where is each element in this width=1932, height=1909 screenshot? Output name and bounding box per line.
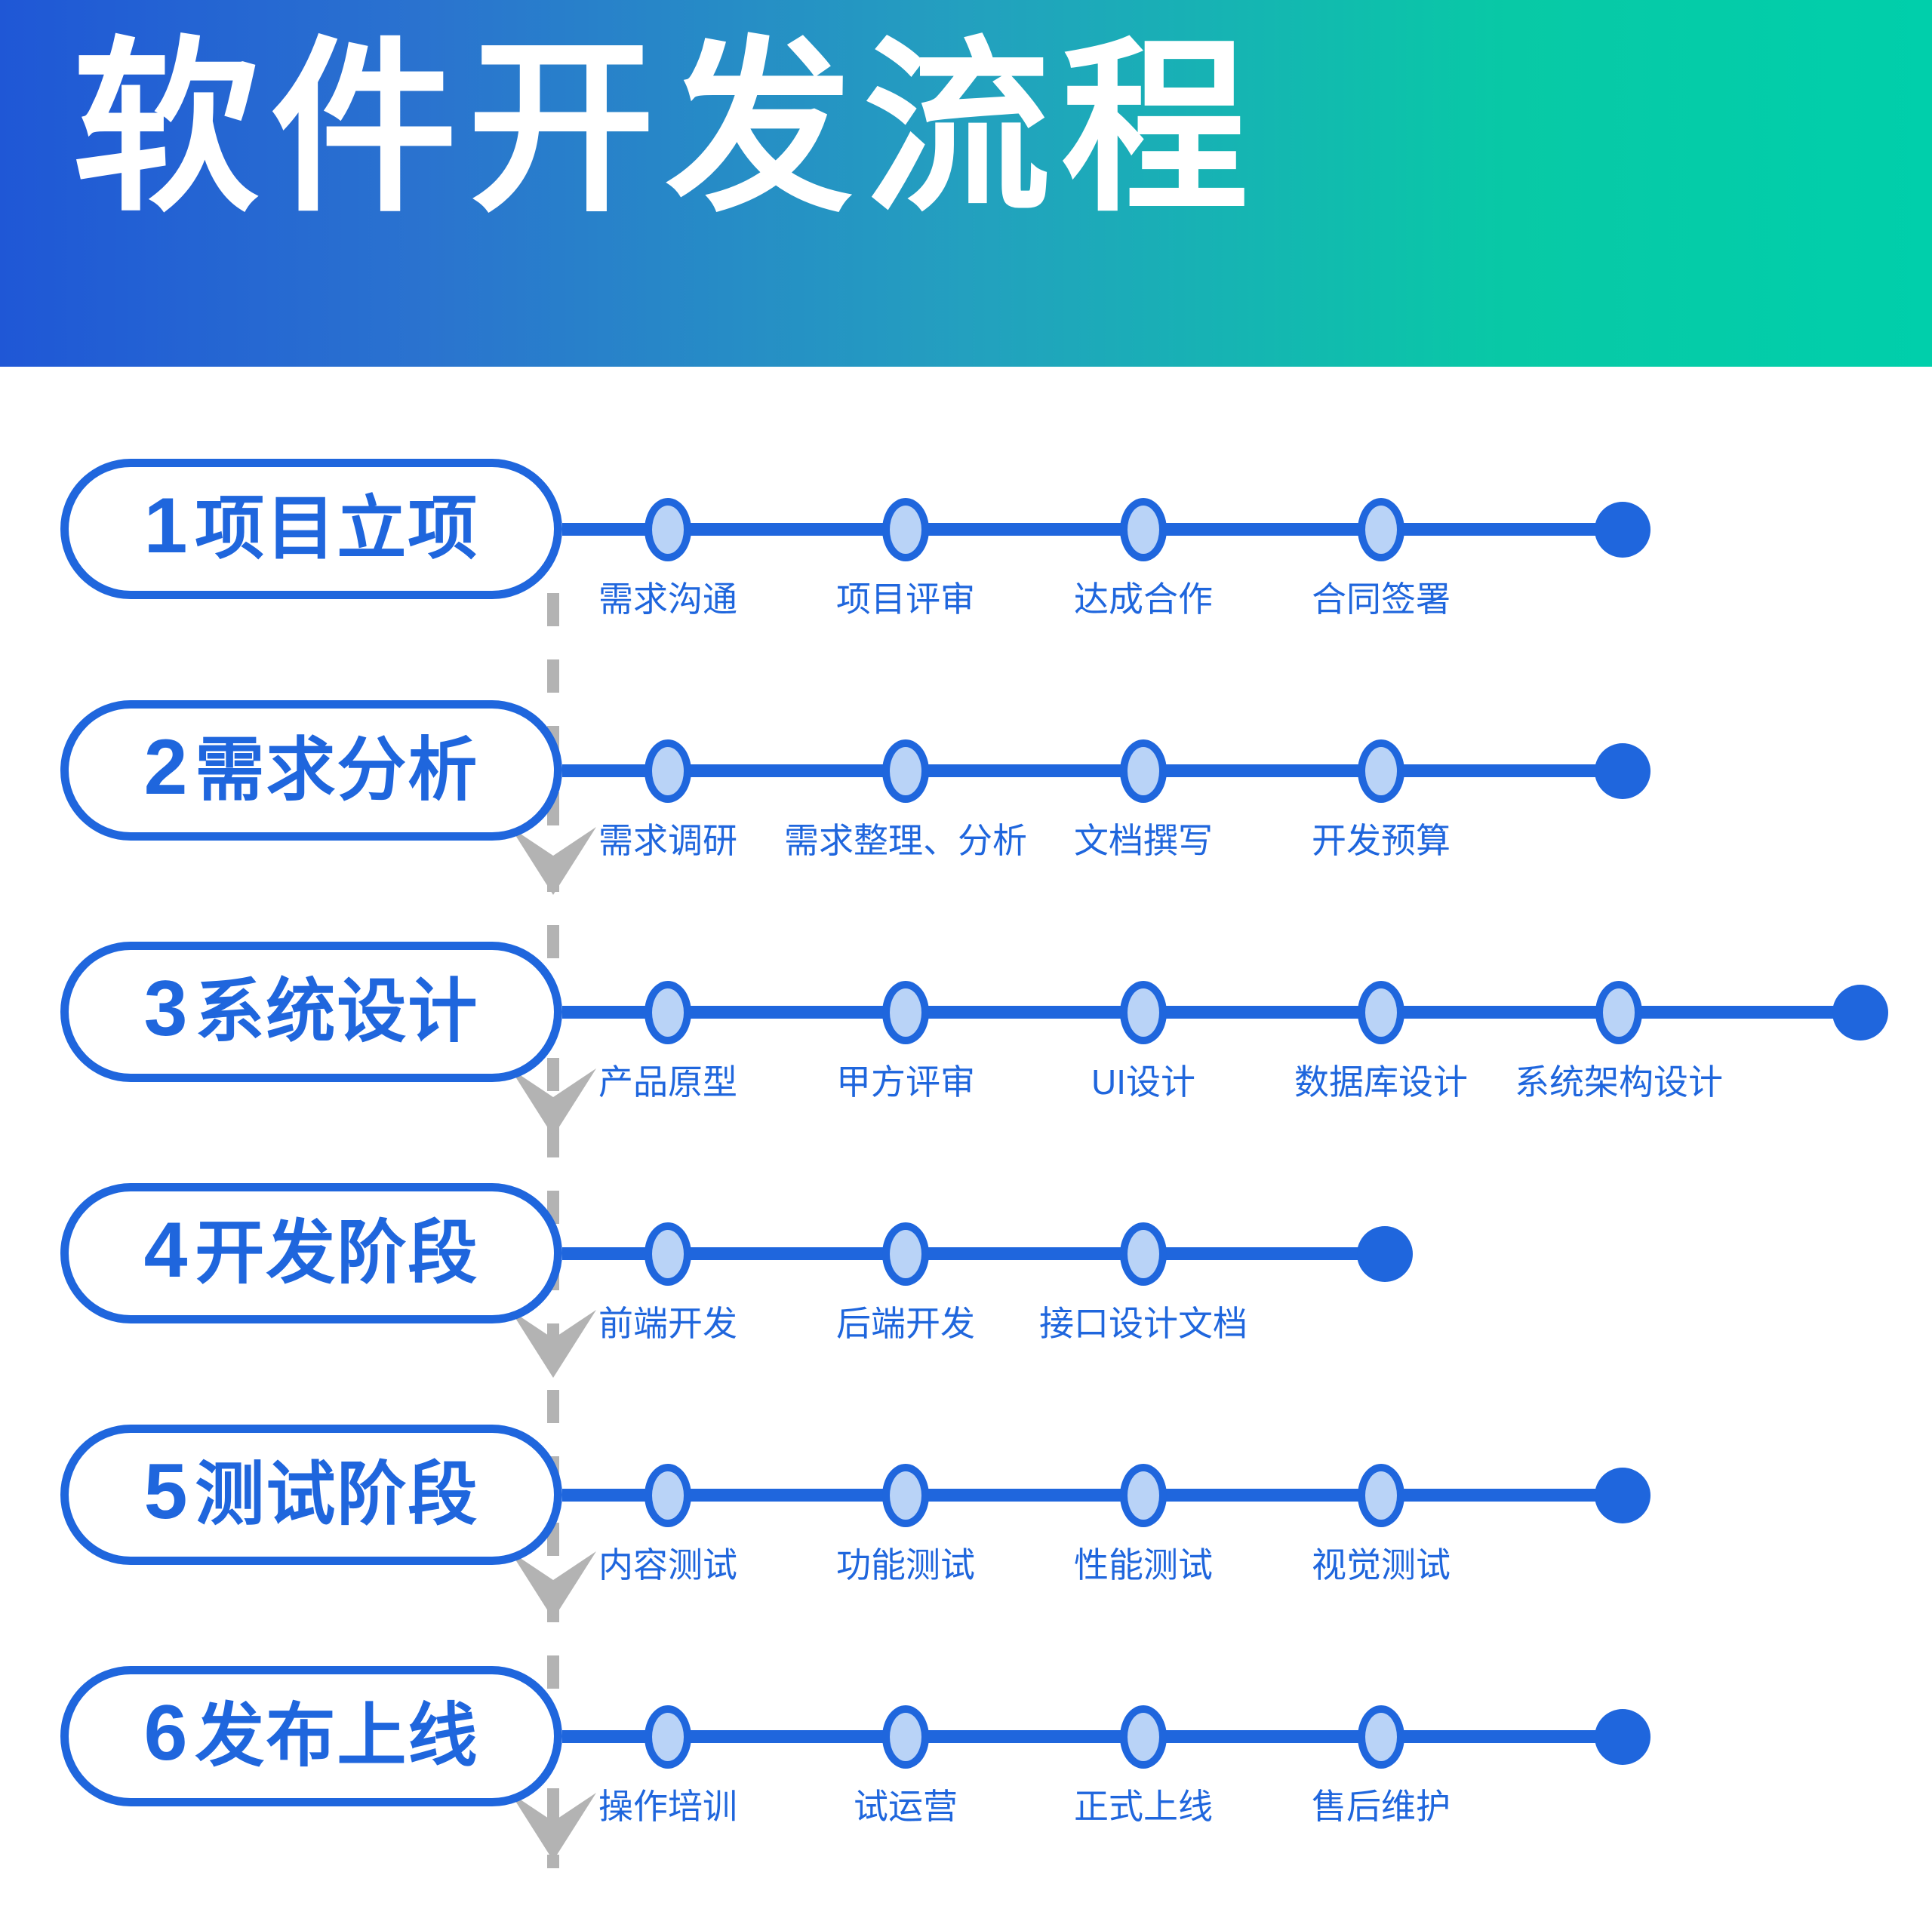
step-node[interactable]: [645, 739, 691, 803]
step-node[interactable]: [882, 1464, 929, 1527]
step-label: 数据库设计: [1294, 1055, 1468, 1105]
stage-number: 6: [144, 1694, 188, 1772]
step-label: 性能测试: [1074, 1538, 1213, 1588]
step-node[interactable]: [645, 1222, 691, 1286]
step-label: 合同签署: [1312, 572, 1451, 622]
step-node[interactable]: [1120, 1222, 1167, 1286]
step-label: 功能测试: [836, 1538, 975, 1588]
step-node[interactable]: [1358, 498, 1404, 561]
step-node[interactable]: [1358, 739, 1404, 803]
step-label: 视觉测试: [1312, 1538, 1451, 1588]
stage-name: 发布上线: [195, 1701, 478, 1771]
step-node[interactable]: [1358, 981, 1404, 1044]
stage-pill-5[interactable]: 5测试阶段: [60, 1425, 562, 1565]
stage-name: 开发阶段: [195, 1219, 478, 1288]
step-node[interactable]: [645, 498, 691, 561]
stage-name: 项目立项: [195, 494, 478, 564]
step-node[interactable]: [1120, 498, 1167, 561]
step-node[interactable]: [1358, 1464, 1404, 1527]
page-title: 软件开发流程: [72, 35, 1259, 222]
step-label: 后端开发: [836, 1296, 975, 1346]
step-node[interactable]: [882, 498, 929, 561]
stage-track: [562, 1730, 1623, 1743]
stage-pill-3[interactable]: 3系统设计: [60, 942, 562, 1082]
stage-track: [562, 523, 1623, 536]
stage-endcap: [1357, 1226, 1413, 1282]
stage-name: 系统设计: [195, 977, 478, 1047]
stage-row: 6发布上线操作培训试运营正式上线售后维护: [0, 1666, 1932, 1907]
stage-endcap: [1832, 985, 1888, 1041]
stage-name: 测试阶段: [195, 1460, 478, 1529]
stage-row: 3系统设计产品原型甲方评审UI设计数据库设计系统架构设计: [0, 942, 1932, 1183]
stage-number: 5: [144, 1452, 188, 1531]
stage-row: 1项目立项需求沟通项目评审达成合作合同签署: [0, 459, 1932, 700]
step-label: 系统架构设计: [1515, 1055, 1723, 1105]
step-label: 操作培训: [598, 1779, 737, 1829]
stage-endcap: [1595, 1468, 1651, 1523]
stage-row: 4开发阶段前端开发后端开发接口设计文档: [0, 1183, 1932, 1425]
step-node[interactable]: [1120, 739, 1167, 803]
step-node[interactable]: [882, 739, 929, 803]
stage-number: 3: [144, 970, 188, 1048]
step-label: 需求整理、分析: [784, 813, 1027, 863]
header-banner: 软件开发流程: [0, 0, 1932, 367]
step-node[interactable]: [645, 981, 691, 1044]
stage-endcap: [1595, 502, 1651, 558]
step-label: 售后维护: [1312, 1779, 1451, 1829]
step-node[interactable]: [645, 1464, 691, 1527]
step-label: 文档撰写: [1074, 813, 1213, 863]
stage-pill-4[interactable]: 4开发阶段: [60, 1183, 562, 1323]
step-label: 内容测试: [598, 1538, 737, 1588]
step-node[interactable]: [1120, 1705, 1167, 1769]
stage-row: 2需求分析需求调研需求整理、分析文档撰写开发预算: [0, 700, 1932, 942]
step-label: 达成合作: [1074, 572, 1213, 622]
stage-row: 5测试阶段内容测试功能测试性能测试视觉测试: [0, 1425, 1932, 1666]
stage-number: 4: [144, 1211, 188, 1290]
step-label: 开发预算: [1312, 813, 1451, 863]
step-label: 需求调研: [598, 813, 737, 863]
step-node[interactable]: [1120, 1464, 1167, 1527]
process-flow: 1项目立项需求沟通项目评审达成合作合同签署2需求分析需求调研需求整理、分析文档撰…: [0, 367, 1932, 1909]
stage-number: 2: [144, 728, 188, 807]
step-node[interactable]: [1358, 1705, 1404, 1769]
step-node[interactable]: [882, 981, 929, 1044]
step-label: 正式上线: [1074, 1779, 1213, 1829]
step-label: 前端开发: [598, 1296, 737, 1346]
step-node[interactable]: [645, 1705, 691, 1769]
stage-track: [562, 1006, 1860, 1019]
step-node[interactable]: [1120, 981, 1167, 1044]
stage-pill-1[interactable]: 1项目立项: [60, 459, 562, 599]
step-node[interactable]: [882, 1222, 929, 1286]
stage-endcap: [1595, 743, 1651, 799]
step-label: 项目评审: [836, 572, 975, 622]
step-label: 产品原型: [598, 1055, 737, 1105]
step-node[interactable]: [882, 1705, 929, 1769]
stage-pill-6[interactable]: 6发布上线: [60, 1666, 562, 1806]
stage-track: [562, 1489, 1623, 1502]
step-label: 需求沟通: [598, 572, 737, 622]
stage-track: [562, 764, 1623, 777]
stage-pill-2[interactable]: 2需求分析: [60, 700, 562, 841]
step-label: UI设计: [1091, 1055, 1195, 1105]
step-node[interactable]: [1595, 981, 1642, 1044]
step-label: 甲方评审: [836, 1055, 975, 1105]
stage-number: 1: [144, 487, 188, 565]
step-label: 接口设计文档: [1039, 1296, 1247, 1346]
stage-endcap: [1595, 1709, 1651, 1765]
step-label: 试运营: [854, 1779, 958, 1829]
stage-name: 需求分析: [195, 736, 478, 805]
